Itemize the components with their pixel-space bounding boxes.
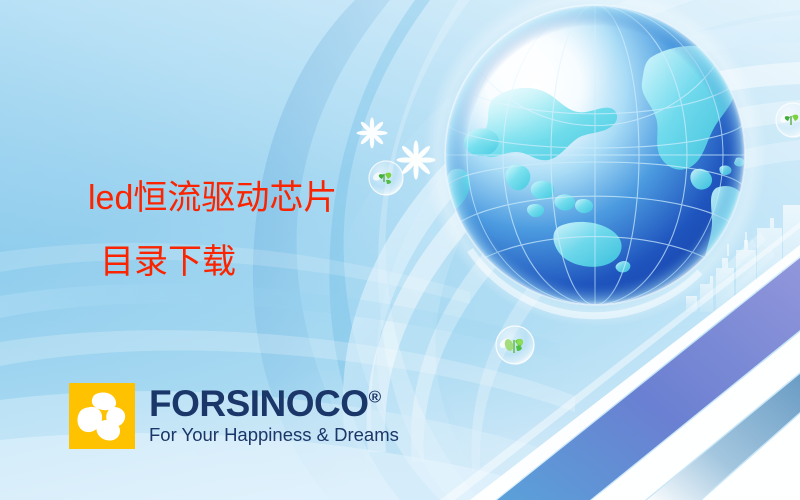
poster-canvas: led恒流驱动芯片 目录下载 FORSINOCO® For Your Happi… xyxy=(0,0,800,500)
brand-logo-lockup[interactable]: FORSINOCO® For Your Happiness & Dreams xyxy=(69,383,399,449)
brand-name: FORSINOCO® xyxy=(149,385,399,423)
diagonal-accent-bands xyxy=(440,222,800,500)
brand-name-text: FORSINOCO xyxy=(149,383,369,424)
brand-text-block: FORSINOCO® For Your Happiness & Dreams xyxy=(149,383,399,446)
registered-trademark-icon: ® xyxy=(369,388,381,407)
brand-tagline: For Your Happiness & Dreams xyxy=(149,424,399,446)
forsinoco-pinwheel-icon xyxy=(69,383,135,449)
